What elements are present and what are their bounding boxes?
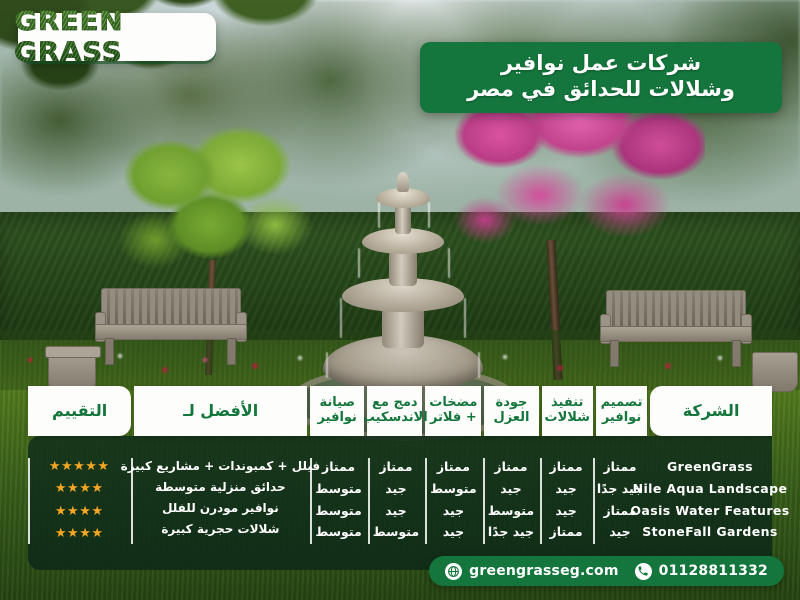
column-best-for: فيلل + كمبوندات + مشاريع كبيرة حدائق منز… — [131, 458, 307, 544]
rating-stars: ★★★★★ — [49, 458, 110, 476]
website-contact[interactable]: greengrasseg.com — [445, 563, 618, 580]
column-landscape-integration: ممتاز جيد جيد متوسط — [368, 458, 422, 544]
table-cell-value: ممتاز — [437, 458, 470, 476]
table-cell-company: StoneFall Gardens — [642, 523, 778, 541]
table-cell-value: متوسط — [373, 523, 419, 541]
column-header-company: الشركة — [650, 386, 772, 436]
column-rating: ★★★★★ ★★★★ ★★★★ ★★★★ — [28, 458, 128, 544]
table-cell-value: متوسط — [315, 523, 361, 541]
table-cell-value: متوسط — [315, 502, 361, 520]
table-cell-company: Oasis Water Features — [630, 502, 789, 520]
headline-line-2: وشلالات للحدائق في مصر — [436, 77, 766, 103]
table-cell-best-for: شلالات حجرية كبيرة — [161, 521, 279, 538]
column-header-waterfall-execution: تنفيذ شلالات — [542, 386, 593, 436]
table-cell-value: ممتاز — [322, 458, 355, 476]
rating-stars: ★★★★ — [55, 525, 104, 543]
table-cell-value: جيد — [500, 480, 521, 498]
table-cell-best-for: نوافير مودرن للفلل — [162, 500, 279, 517]
column-pumps-filters: ممتاز متوسط جيد جيد — [425, 458, 480, 544]
phone-text: 01128811332 — [659, 563, 768, 579]
table-cell-value: متوسط — [315, 480, 361, 498]
table-header-row: الشركة تصميم نوافير تنفيذ شلالات جودة ال… — [28, 386, 772, 436]
table-cell-value: ممتاز — [494, 458, 527, 476]
globe-icon — [445, 563, 462, 580]
table-cell-value: ممتاز — [603, 502, 636, 520]
phone-contact[interactable]: 01128811332 — [635, 563, 768, 580]
column-header-landscape-integration: دمج مع الاندسكيب — [367, 386, 422, 436]
table-cell-company: Nile Aqua Landscape — [633, 480, 788, 498]
brand-logo[interactable]: GREEN GRASS — [18, 13, 216, 61]
rating-stars: ★★★★ — [55, 503, 104, 521]
table-cell-best-for: فيلل + كمبوندات + مشاريع كبيرة — [121, 458, 321, 475]
table-cell-value: متوسط — [430, 480, 476, 498]
table-cell-value: ممتاز — [379, 458, 412, 476]
table-cell-value: متوسط — [488, 502, 534, 520]
column-company: GreenGrass Nile Aqua Landscape Oasis Wat… — [648, 458, 772, 544]
infographic-canvas: GREEN GRASS شركات عمل نوافير وشلالات للح… — [0, 0, 800, 600]
table-cell-value: جيد جدًا — [488, 523, 534, 541]
column-waterfall-execution: ممتاز جيد جيد ممتاز — [540, 458, 590, 544]
column-insulation-quality: ممتاز جيد متوسط جيد جدًا — [483, 458, 537, 544]
column-header-pumps-filters: مضخات + فلاتر — [425, 386, 481, 436]
table-cell-value: جيد — [385, 502, 406, 520]
headline-banner: شركات عمل نوافير وشلالات للحدائق في مصر — [420, 42, 782, 113]
website-text: greengrasseg.com — [469, 563, 618, 579]
table-cell-value: جيد — [555, 502, 576, 520]
table-cell-value: ممتاز — [550, 523, 583, 541]
headline-line-1: شركات عمل نوافير — [436, 51, 766, 77]
table-body: GreenGrass Nile Aqua Landscape Oasis Wat… — [28, 436, 772, 570]
column-header-best-for: الأفضل لـ — [134, 386, 307, 436]
table-cell-value: جيد — [609, 523, 630, 541]
contact-bar: greengrasseg.com 01128811332 — [429, 556, 784, 586]
table-cell-value: ممتاز — [603, 458, 636, 476]
brand-logo-text: GREEN GRASS — [14, 6, 220, 68]
column-header-fountain-design: تصميم نوافير — [596, 386, 647, 436]
table-cell-company: GreenGrass — [667, 458, 753, 476]
column-header-maintenance: صيانة نوافير — [310, 386, 364, 436]
table-cell-value: ممتاز — [550, 458, 583, 476]
table-cell-value: جيد جدًا — [597, 480, 643, 498]
table-cell-value: جيد — [385, 480, 406, 498]
column-header-insulation-quality: جودة العزل — [484, 386, 538, 436]
phone-icon — [635, 563, 652, 580]
table-cell-value: جيد — [555, 480, 576, 498]
table-cell-best-for: حدائق منزلية متوسطة — [155, 479, 285, 496]
table-cell-value: جيد — [443, 523, 464, 541]
table-cell-value: جيد — [443, 502, 464, 520]
column-fountain-design: ممتاز جيد جدًا ممتاز جيد — [593, 458, 645, 544]
column-header-rating: التقييم — [28, 386, 131, 436]
comparison-table: الشركة تصميم نوافير تنفيذ شلالات جودة ال… — [28, 386, 772, 570]
rating-stars: ★★★★ — [55, 480, 104, 498]
